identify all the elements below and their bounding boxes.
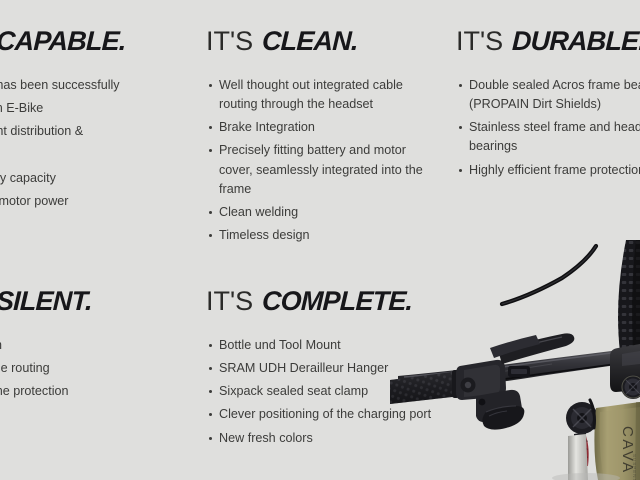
bullet-list-silent: tegration ned cable routing ned frame pr… — [0, 336, 190, 401]
list-item: system has been successfully — [0, 76, 190, 95]
bullet-list-durable: Double sealed Acros frame bearings (PROP… — [456, 76, 640, 180]
list-item: ned cable routing — [0, 359, 190, 378]
section-heading-silent: IT'SSILENT. — [0, 288, 190, 315]
list-item: Well thought out integrated cable routin… — [206, 76, 436, 114]
presentation-slide: IT'SCAPABLE. system has been successfull… — [0, 0, 640, 480]
tire-fragment — [618, 240, 640, 358]
list-item: Highly efficient frame protection — [456, 161, 640, 180]
bullet-list-capable: system has been successfully red to an E… — [0, 76, 190, 211]
section-heading-clean: IT'SCLEAN. — [206, 28, 436, 55]
fork-leg: CAVA SUSPENSION — [594, 402, 640, 480]
heading-word: CLEAN. — [262, 28, 359, 55]
section-silent: IT'SSILENT. tegration ned cable routing … — [0, 288, 190, 405]
section-capable: IT'SCAPABLE. system has been successfull… — [0, 28, 190, 215]
bullet-list-clean: Well thought out integrated cable routin… — [206, 76, 436, 245]
list-item: tegration — [0, 336, 190, 355]
section-heading-capable: IT'SCAPABLE. — [0, 28, 190, 55]
list-item: Stainless steel frame and headset bearin… — [456, 118, 640, 156]
section-clean: IT'SCLEAN. Well thought out integrated c… — [206, 28, 436, 249]
list-item: y — [0, 145, 190, 164]
list-item: Clean welding — [206, 203, 436, 222]
list-item: Precisely fitting battery and motor cove… — [206, 141, 436, 198]
heading-word: SILENT. — [0, 288, 93, 315]
section-durable: IT'SDURABLE. Double sealed Acros frame b… — [456, 28, 640, 184]
heading-word: DURABLE. — [512, 28, 640, 55]
dropper-remote — [476, 390, 524, 430]
list-item: red to an E-Bike — [0, 99, 190, 118]
list-item: re peak motor power — [0, 192, 190, 211]
heading-prefix: IT'S — [456, 26, 503, 56]
list-item: ned frame protection — [0, 382, 190, 401]
list-item: Double sealed Acros frame bearings (PROP… — [456, 76, 640, 114]
section-heading-durable: IT'SDURABLE. — [456, 28, 640, 55]
heading-word: CAPABLE. — [0, 28, 126, 55]
list-item: Brake Integration — [206, 118, 436, 137]
heading-prefix: IT'S — [206, 26, 253, 56]
e-bike-cockpit-photo: CAVA SUSPENSION — [390, 240, 640, 480]
heading-prefix: IT'S — [206, 286, 253, 316]
stem-and-crown — [610, 344, 640, 399]
svg-text:SUSPENSION: SUSPENSION — [632, 454, 637, 480]
list-item: re battery capacity — [0, 169, 190, 188]
list-item: ed weight distribution & — [0, 122, 190, 141]
